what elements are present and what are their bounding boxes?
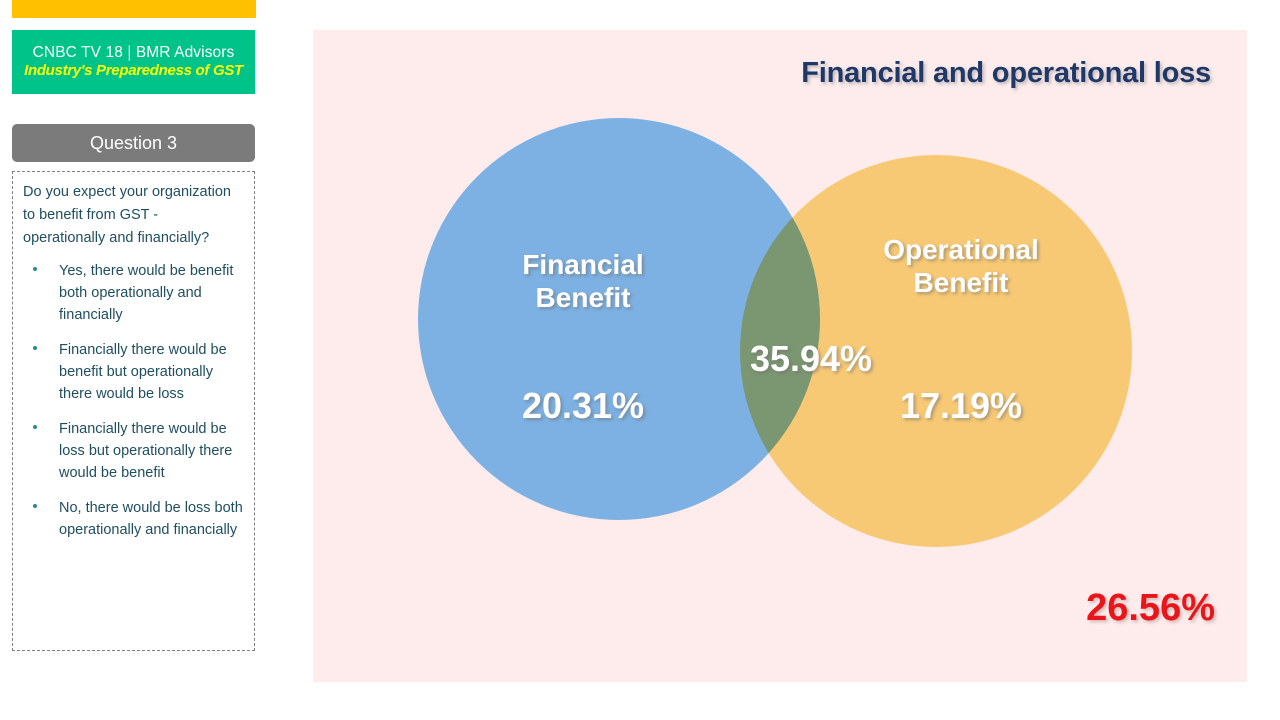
answer-option-label: No, there would be loss both operational… [59, 500, 243, 538]
venn-label-financial: Financial Benefit [483, 248, 683, 314]
venn-label-operational-line2: Benefit [851, 266, 1071, 299]
answer-option-label: Financially there would be benefit but o… [59, 342, 227, 402]
venn-value-operational: 17.19% [851, 385, 1071, 427]
answer-option-list: Yes, there would be benefit both operati… [23, 260, 244, 541]
question-prompt: Do you expect your organization to benef… [23, 181, 244, 250]
venn-label-operational-line1: Operational [851, 233, 1071, 266]
venn-label-operational: Operational Benefit [851, 233, 1071, 299]
brand-subtitle: Industry's Preparedness of GST [24, 62, 243, 79]
answer-option-label: Yes, there would be benefit both operati… [59, 263, 233, 323]
answer-option: Financially there would be benefit but o… [23, 339, 244, 405]
brand-accent-bar [12, 0, 256, 18]
question-panel: Do you expect your organization to benef… [12, 171, 255, 651]
venn-value-financial: 20.31% [483, 385, 683, 427]
answer-option: No, there would be loss both operational… [23, 497, 244, 541]
brand-title: CNBC TV 18 | BMR Advisors [33, 44, 235, 62]
question-number-badge[interactable]: Question 3 [12, 124, 255, 162]
bullet-icon [33, 267, 37, 271]
brand-banner: CNBC TV 18 | BMR Advisors Industry's Pre… [12, 30, 255, 94]
chart-panel: Financial and operational loss Financial… [313, 30, 1247, 682]
venn-label-financial-line2: Benefit [483, 281, 683, 314]
venn-value-intersection: 35.94% [711, 338, 911, 380]
venn-value-loss: 26.56% [1086, 587, 1215, 630]
venn-label-financial-line1: Financial [483, 248, 683, 281]
venn-diagram: Financial Benefit 20.31% Operational Ben… [313, 30, 1247, 682]
answer-option-label: Financially there would be loss but oper… [59, 421, 232, 481]
bullet-icon [33, 346, 37, 350]
question-badge-label: Question 3 [90, 133, 177, 154]
answer-option: Financially there would be loss but oper… [23, 418, 244, 484]
sidebar: CNBC TV 18 | BMR Advisors Industry's Pre… [0, 0, 270, 720]
answer-option: Yes, there would be benefit both operati… [23, 260, 244, 326]
bullet-icon [33, 425, 37, 429]
bullet-icon [33, 504, 37, 508]
